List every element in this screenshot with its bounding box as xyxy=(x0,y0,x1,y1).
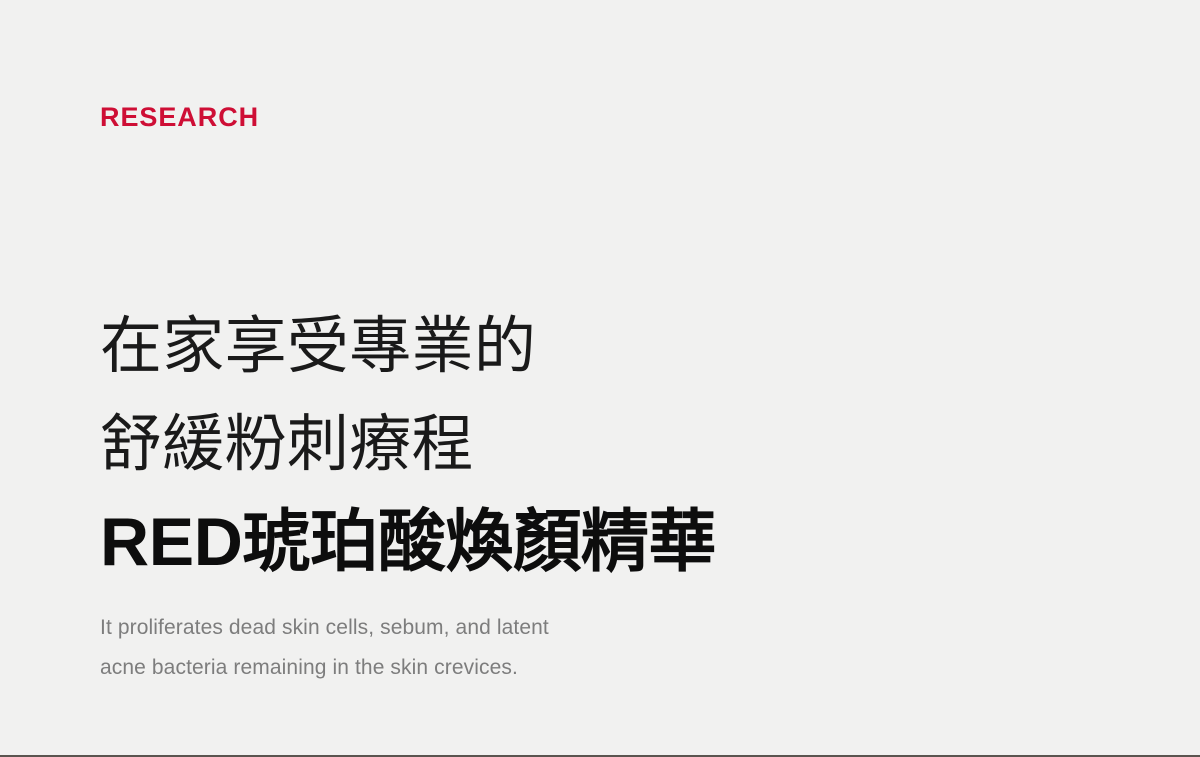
headline-line-2: 舒緩粉刺療程 xyxy=(100,396,1000,494)
section-eyebrow: RESEARCH xyxy=(100,100,259,134)
content-column: RESEARCH 在家享受專業的 舒緩粉刺療程 RED琥珀酸煥顏精華 It pr… xyxy=(100,0,1100,757)
headline-group: 在家享受專業的 舒緩粉刺療程 RED琥珀酸煥顏精華 xyxy=(100,298,1000,590)
body-paragraph: It proliferates dead skin cells, sebum, … xyxy=(100,608,800,688)
body-line-1: It proliferates dead skin cells, sebum, … xyxy=(100,608,800,648)
headline-line-3-product-name: RED琥珀酸煥顏精華 xyxy=(100,494,1000,590)
research-section: RESEARCH 在家享受專業的 舒緩粉刺療程 RED琥珀酸煥顏精華 It pr… xyxy=(0,0,1200,757)
body-line-2: acne bacteria remaining in the skin crev… xyxy=(100,648,800,688)
headline-line-1: 在家享受專業的 xyxy=(100,298,1000,396)
